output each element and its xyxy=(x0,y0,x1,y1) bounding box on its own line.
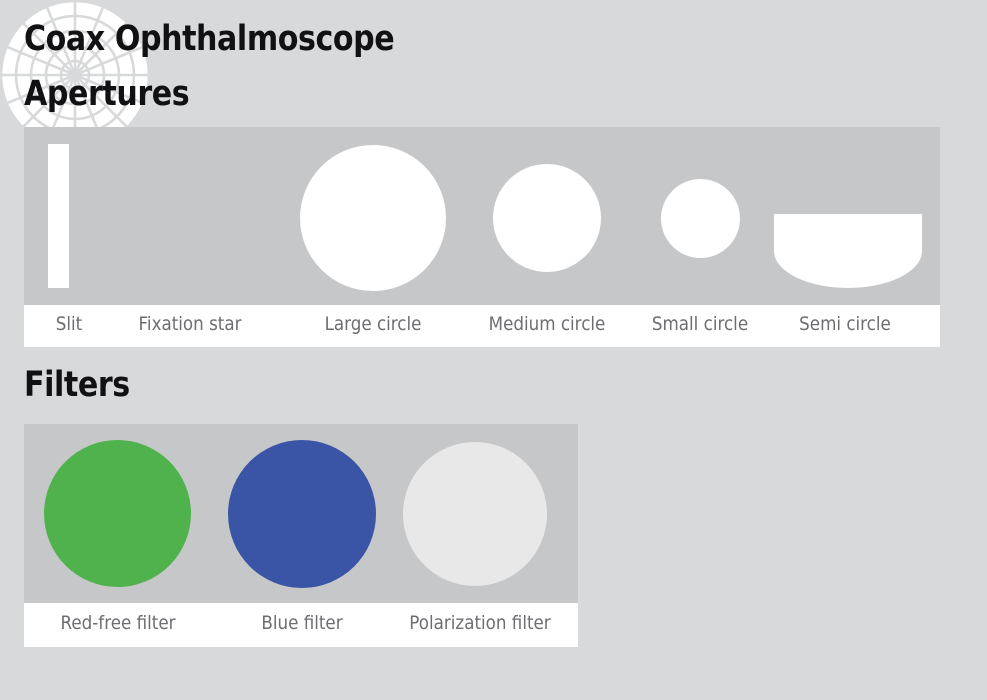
aperture-label-slit: Slit xyxy=(26,315,112,334)
blue-filter-icon xyxy=(228,440,376,588)
aperture-label-small-circle: Small circle xyxy=(631,315,768,334)
filter-label-blue: Blue filter xyxy=(232,614,373,633)
aperture-label-medium-circle: Medium circle xyxy=(476,315,619,334)
semi-circle-aperture-icon xyxy=(774,214,922,288)
aperture-label-large-circle: Large circle xyxy=(302,315,445,334)
large-circle-aperture-icon xyxy=(300,145,446,291)
small-circle-aperture-icon xyxy=(661,179,740,258)
page-title-line-2: Apertures xyxy=(24,77,189,112)
aperture-label-semi-circle: Semi circle xyxy=(781,315,909,334)
aperture-label-fixation-star: Fixation star xyxy=(121,315,258,334)
medium-circle-aperture-icon xyxy=(493,164,601,272)
page-title-line-1: Coax Ophthalmoscope xyxy=(24,22,394,57)
filter-label-polarization: Polarization filter xyxy=(394,614,566,633)
filter-label-red-free: Red-free filter xyxy=(46,614,190,633)
polarization-filter-icon xyxy=(403,442,547,586)
red-free-filter-icon xyxy=(44,440,191,587)
filters-section-heading: Filters xyxy=(24,368,130,403)
slit-aperture-icon xyxy=(48,144,69,288)
